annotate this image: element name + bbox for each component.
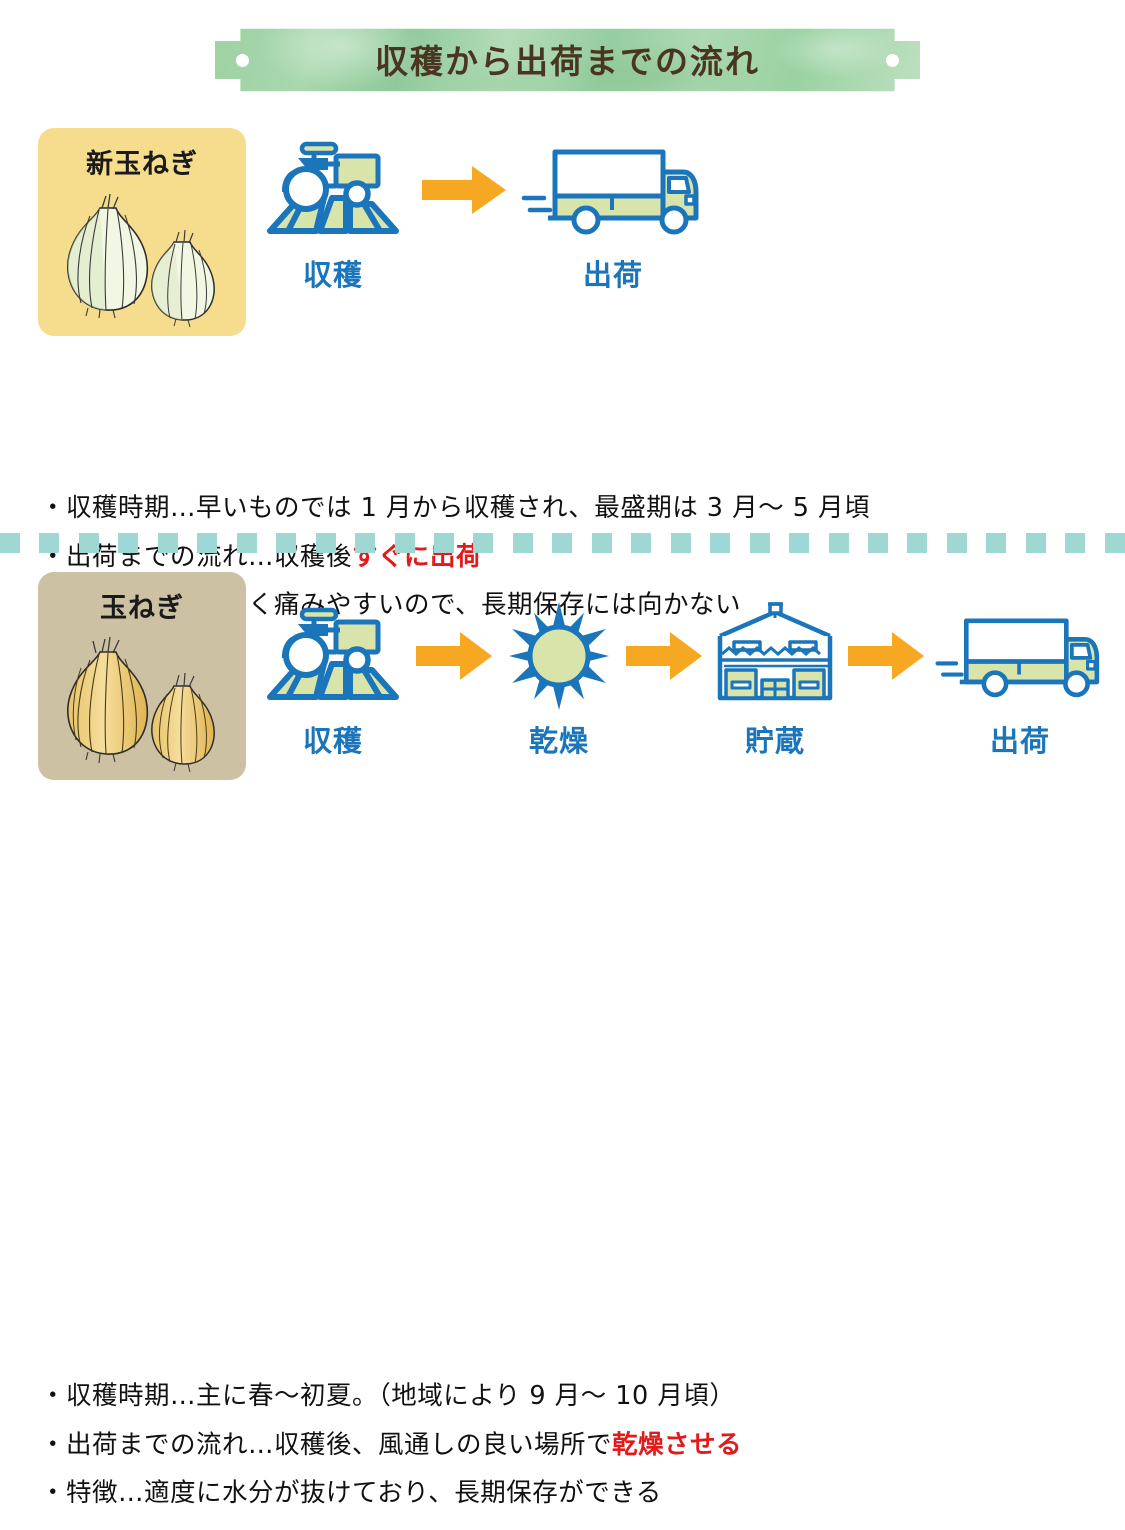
divider-dash — [986, 533, 1006, 553]
divider-dash — [907, 533, 927, 553]
divider-dash — [276, 533, 296, 553]
bullet-feature-2: ・特徴…適度に水分が抜けており、長期保存ができる — [40, 1481, 1100, 1507]
divider-dash — [631, 533, 651, 553]
step-label-dry: 乾燥 — [529, 718, 589, 760]
divider-dash — [237, 533, 257, 553]
divider-dash — [197, 533, 217, 553]
step-ship-2: 出荷 — [932, 602, 1108, 760]
divider-dash — [868, 533, 888, 553]
divider-dash — [473, 533, 493, 553]
step-label-ship-1: 出荷 — [583, 252, 643, 294]
step-harvest-1: 収穫 — [258, 136, 408, 294]
step-label-ship-2: 出荷 — [990, 718, 1050, 760]
step-label-harvest-2: 収穫 — [303, 718, 363, 760]
arrow-2-2 — [618, 602, 710, 710]
divider-dash — [79, 533, 99, 553]
card-label-new-onion: 新玉ねぎ — [38, 142, 246, 181]
flow-onion: 収穫 — [258, 602, 1108, 760]
divider-dash — [552, 533, 572, 553]
page-title: 収穫から出荷までの流れ — [215, 26, 920, 94]
divider-dash — [1026, 533, 1046, 553]
divider-dash — [710, 533, 730, 553]
sun-icon — [500, 602, 618, 710]
step-ship-1: 出荷 — [518, 136, 708, 294]
divider-dash — [513, 533, 533, 553]
step-harvest-2: 収穫 — [258, 602, 408, 760]
arrow-2-3 — [840, 602, 932, 710]
step-label-harvest-1: 収穫 — [303, 252, 363, 294]
divider-dash — [316, 533, 336, 553]
divider-dash — [1105, 533, 1125, 553]
truck-icon — [932, 602, 1108, 710]
tractor-icon — [258, 602, 408, 710]
divider-dash — [158, 533, 178, 553]
step-storage: 貯蔵 — [710, 602, 840, 760]
highlight-text-2: 乾燥させる — [612, 1430, 742, 1460]
flow-new-onion: 収穫 — [258, 136, 708, 294]
title-banner: 収穫から出荷までの流れ — [215, 26, 920, 94]
divider-dash — [1065, 533, 1085, 553]
divider-dash — [0, 533, 20, 553]
divider-dash — [118, 533, 138, 553]
step-label-storage: 貯蔵 — [745, 718, 805, 760]
bullet-harvest-time-1: ・収穫時期…早いものでは 1 月から収穫され、最盛期は 3 月〜 5 月頃 — [40, 496, 1100, 522]
divider-dash — [671, 533, 691, 553]
card-onion: 玉ねぎ — [38, 572, 246, 780]
arrow-1-1 — [408, 136, 518, 244]
card-new-onion: 新玉ねぎ — [38, 128, 246, 336]
bullet-flow-2: ・出荷までの流れ…収穫後、風通しの良い場所で乾燥させる — [40, 1433, 1100, 1459]
card-label-onion: 玉ねぎ — [38, 586, 246, 625]
bullets-onion: ・収穫時期…主に春〜初夏。（地域により 9 月〜 10 月頃） ・出荷までの流れ… — [40, 1384, 1100, 1530]
divider-dash — [947, 533, 967, 553]
step-dry: 乾燥 — [500, 602, 618, 760]
divider-dash — [355, 533, 375, 553]
warehouse-icon — [710, 602, 840, 710]
bullet-harvest-time-2: ・収穫時期…主に春〜初夏。（地域により 9 月〜 10 月頃） — [40, 1384, 1100, 1410]
divider-dash — [39, 533, 59, 553]
section-divider — [0, 533, 1125, 553]
tractor-icon — [258, 136, 408, 244]
arrow-2-1 — [408, 602, 500, 710]
divider-dash — [750, 533, 770, 553]
new-onion-illustration — [38, 182, 246, 332]
divider-dash — [592, 533, 612, 553]
divider-dash — [434, 533, 454, 553]
divider-dash — [829, 533, 849, 553]
truck-icon — [518, 136, 708, 244]
divider-dash — [789, 533, 809, 553]
onion-illustration — [38, 626, 246, 776]
divider-dash — [395, 533, 415, 553]
